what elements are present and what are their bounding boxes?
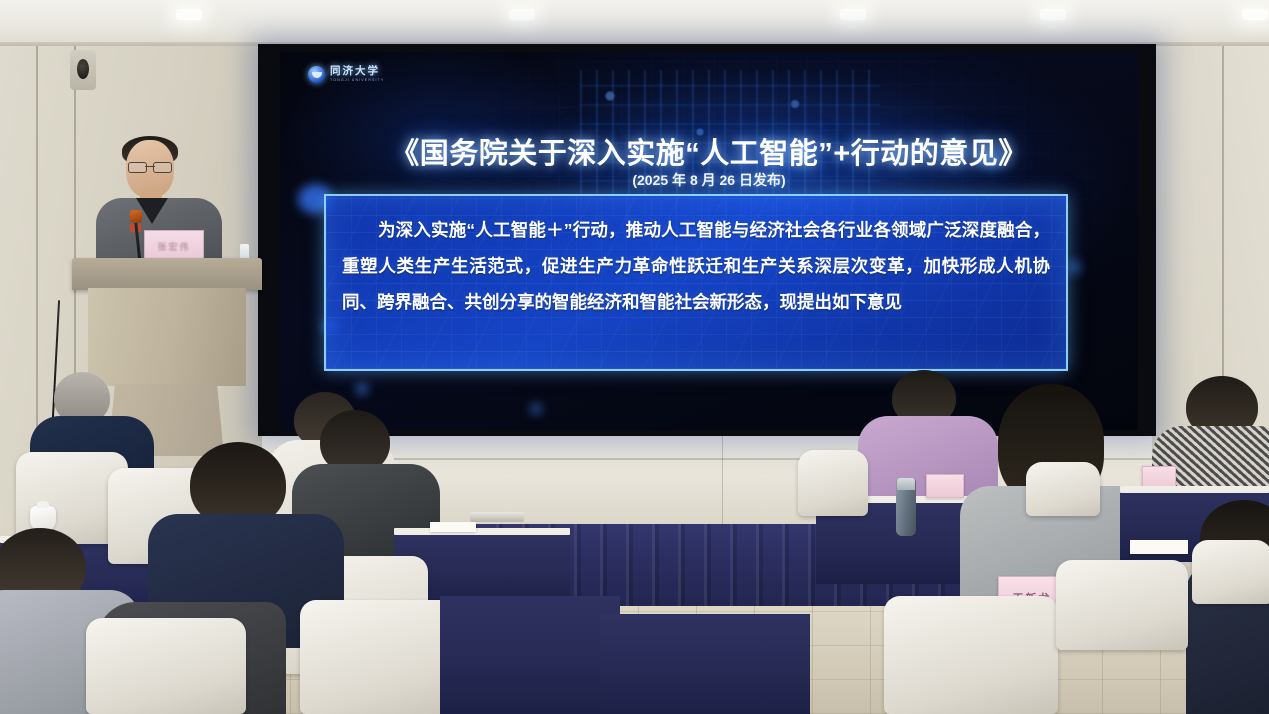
microphone-icon xyxy=(130,210,142,223)
slide-subtitle: (2025 年 8 月 26 日发布) xyxy=(280,170,1138,190)
audience-chair xyxy=(1026,462,1100,516)
ceiling-downlight xyxy=(1242,9,1268,20)
conference-room-photo: 同济大学 TONGJI UNIVERSITY 《国务院关于深入实施“人工智能”+… xyxy=(0,0,1269,714)
wall-seam xyxy=(722,436,723,528)
audience-table-top xyxy=(1120,486,1269,493)
audience-chair xyxy=(1056,560,1188,650)
lectern-top xyxy=(72,258,262,290)
audience-table xyxy=(600,614,810,714)
audience-table xyxy=(440,596,620,714)
projection-screen-frame: 同济大学 TONGJI UNIVERSITY 《国务院关于深入实施“人工智能”+… xyxy=(258,44,1156,436)
ceiling-downlight xyxy=(1040,9,1066,20)
eyeglasses-icon xyxy=(128,162,172,171)
audience-name-card xyxy=(926,474,964,498)
audience-chair xyxy=(884,596,1058,714)
slide-body-textbox: 为深入实施“人工智能＋”行动，推动人工智能与经济社会各行业各领域广泛深度融合，重… xyxy=(324,194,1068,371)
university-name-en: TONGJI UNIVERSITY xyxy=(330,79,384,83)
tongji-university-logo: 同济大学 TONGJI UNIVERSITY xyxy=(308,66,384,83)
ceiling-downlight xyxy=(509,9,535,20)
glow-dot xyxy=(530,404,542,414)
slide-title: 《国务院关于深入实施“人工智能”+行动的意见》 xyxy=(280,130,1138,172)
notebook-paper xyxy=(430,522,476,532)
audience-chair xyxy=(86,618,246,714)
ceiling xyxy=(0,0,1269,46)
notebook-paper xyxy=(1130,540,1188,554)
audience-table-top xyxy=(394,528,570,535)
thermos-flask xyxy=(896,478,916,536)
podium-name-card-text: 张宏伟 xyxy=(157,240,190,253)
audience-chair xyxy=(798,450,868,516)
glow-dot xyxy=(1066,260,1082,274)
audience-person xyxy=(1186,500,1269,714)
ceiling-downlight xyxy=(840,9,866,20)
wall-speaker-icon xyxy=(70,50,96,90)
university-name-cn: 同济大学 xyxy=(330,66,384,77)
audience-chair xyxy=(1192,540,1269,604)
laptop xyxy=(470,512,524,522)
slide-body-text: 为深入实施“人工智能＋”行动，推动人工智能与经济社会各行业各领域广泛深度融合，重… xyxy=(326,196,1066,320)
university-emblem-icon xyxy=(308,66,325,83)
presentation-slide: 同济大学 TONGJI UNIVERSITY 《国务院关于深入实施“人工智能”+… xyxy=(280,52,1138,430)
ceiling-downlight xyxy=(176,9,202,20)
